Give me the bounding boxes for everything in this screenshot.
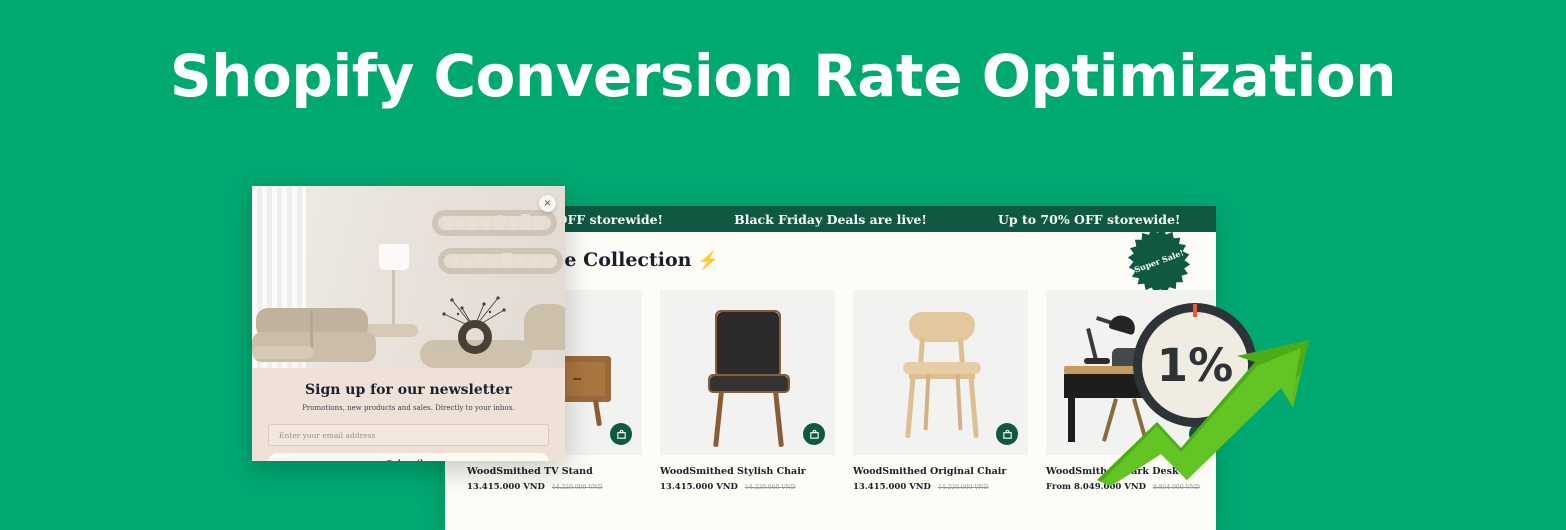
decor-shape	[521, 214, 530, 230]
decor-shape	[444, 218, 453, 230]
decor-shape	[392, 270, 395, 328]
decor-shape	[924, 374, 931, 430]
decor-shape	[252, 346, 314, 359]
product-title: WoodSmithed TV Stand	[467, 466, 642, 477]
product-title: WoodSmithed Original Chair	[853, 466, 1028, 477]
shopping-bag-icon	[616, 429, 627, 440]
decor-shape	[482, 219, 490, 230]
product-price-row: 13.415.000 VND 14.220.000 VND	[853, 482, 1028, 492]
shopping-bag-icon	[1002, 429, 1013, 440]
announcement-item: Up to 70% OFF storewide!	[962, 212, 1216, 227]
decor-shape	[458, 320, 492, 354]
newsletter-popup: ✕ Sign up for our newsletter Promotions,…	[252, 186, 565, 461]
subscribe-button[interactable]: Subscribe	[268, 453, 549, 461]
product-card[interactable]: WoodSmithed Original Chair 13.415.000 VN…	[853, 290, 1028, 492]
poster-canvas: Shopify Conversion Rate Optimization Up …	[0, 0, 1566, 530]
decor-shape	[909, 374, 975, 379]
newsletter-title: Sign up for our newsletter	[268, 382, 549, 398]
product-price-row: 13.415.000 VND 14.220.000 VND	[660, 482, 835, 492]
decor-shape	[534, 217, 544, 230]
shopping-bag-icon	[809, 429, 820, 440]
decor-shape	[593, 400, 602, 426]
add-to-cart-button[interactable]	[996, 423, 1018, 445]
gauge-tick-icon	[1193, 304, 1197, 317]
decor-shape	[463, 258, 471, 268]
decor-shape	[1068, 398, 1075, 442]
product-title: WoodSmithed Stylish Chair	[660, 466, 835, 477]
decor-shape	[713, 391, 724, 447]
decor-shape	[450, 256, 459, 268]
decor-shape	[501, 253, 512, 268]
product-image-light-wood-chair[interactable]	[853, 290, 1028, 455]
product-image-dark-leather-chair[interactable]	[660, 290, 835, 455]
announcement-item: Black Friday Deals are live!	[699, 212, 963, 227]
page-title: Shopify Conversion Rate Optimization	[0, 46, 1566, 107]
decor-shape	[544, 256, 553, 268]
decor-shape	[968, 374, 979, 438]
product-compare-price: 14.220.000 VND	[552, 484, 603, 491]
decor-shape	[573, 378, 581, 380]
newsletter-subtitle: Promotions, new products and sales. Dire…	[268, 404, 549, 412]
decor-shape	[773, 391, 784, 447]
newsletter-form: Sign up for our newsletter Promotions, n…	[252, 368, 565, 461]
decor-shape	[905, 374, 916, 438]
product-price-row: 13.415.000 VND 14.220.000 VND	[467, 482, 642, 492]
decor-shape	[509, 218, 517, 230]
decor-shape	[438, 340, 450, 352]
close-icon[interactable]: ✕	[539, 195, 556, 212]
decor-shape	[494, 215, 505, 230]
product-compare-price: 14.220.000 VND	[938, 484, 989, 491]
product-price: 13.415.000 VND	[467, 482, 545, 492]
decor-shape	[379, 244, 409, 270]
super-sale-badge: Super Sale!	[1120, 222, 1198, 300]
decor-shape	[956, 374, 963, 430]
decor-shape	[529, 255, 541, 268]
decor-shape	[909, 312, 975, 342]
email-input[interactable]: Enter your email address	[268, 424, 549, 446]
decor-shape	[516, 257, 525, 268]
popup-hero-image: ✕	[252, 186, 565, 368]
lightning-bolt-icon: ⚡	[697, 251, 718, 271]
product-price: 13.415.000 VND	[853, 482, 931, 492]
super-sale-label: Super Sale!	[1133, 247, 1185, 274]
decor-shape	[475, 254, 485, 268]
product-card[interactable]: WoodSmithed Stylish Chair 13.415.000 VND…	[660, 290, 835, 492]
add-to-cart-button[interactable]	[803, 423, 825, 445]
decor-shape	[468, 216, 478, 230]
decor-shape	[524, 304, 565, 350]
growth-arrow-icon	[1095, 330, 1325, 490]
add-to-cart-button[interactable]	[610, 423, 632, 445]
decor-shape	[903, 362, 981, 374]
product-compare-price: 14.220.000 VND	[745, 484, 796, 491]
decor-shape	[457, 220, 464, 230]
decor-shape	[715, 310, 781, 382]
decor-shape	[489, 256, 497, 268]
product-price: 13.415.000 VND	[660, 482, 738, 492]
